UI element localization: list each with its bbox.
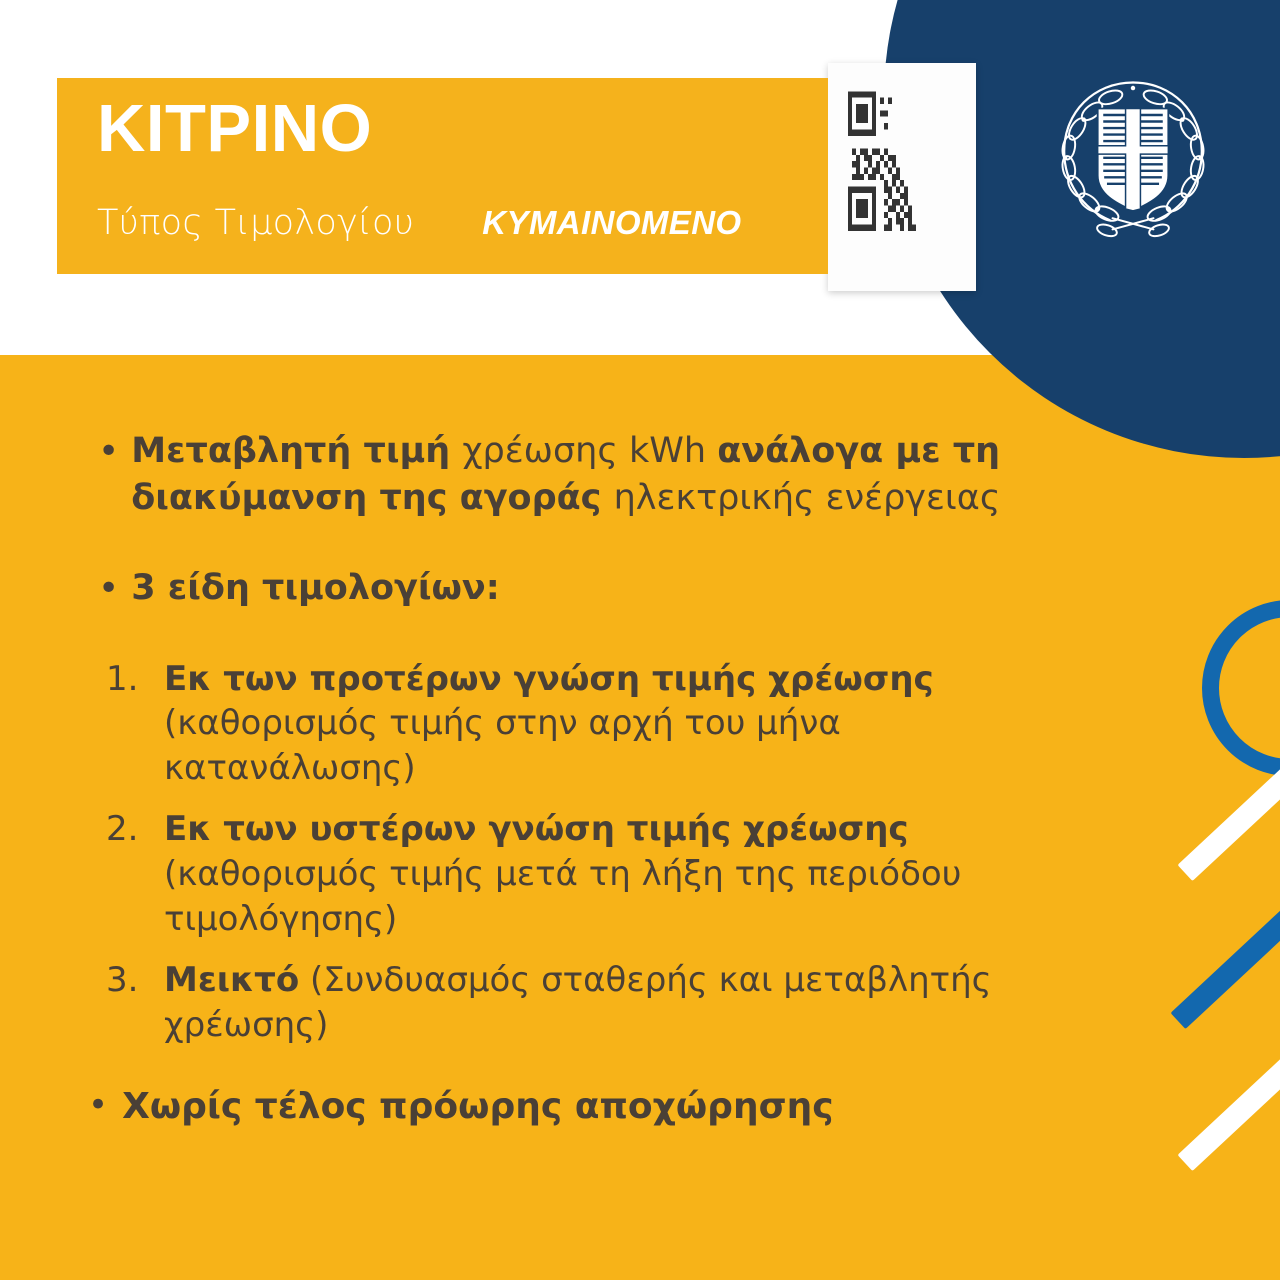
list-item-body: Μεικτό (Συνδυασμός σταθερής και μεταβλητ…	[164, 958, 1078, 1048]
kinds-heading-text: 3 είδη τιμολογίων:	[131, 565, 1078, 612]
bullet-no-exit-fee-text: Χωρίς τέλος πρόωρης αποχώρησης	[122, 1085, 834, 1128]
bullet-kinds-heading: • 3 είδη τιμολογίων:	[98, 565, 1078, 613]
header-banner: ΚΙΤΡΙΝΟ Τύπος Τιμολογίου ΚΥΜΑΙΝΟΜΕΝΟ	[57, 78, 828, 274]
lead-seg-1: Μεταβλητή τιμή	[131, 431, 462, 471]
list-item-title: Εκ των υστέρων γνώση τιμής χρέωσης	[164, 809, 909, 849]
bullet-variable-price-text: Μεταβλητή τιμή χρέωσης kWh ανάλογα με τη…	[131, 428, 1078, 521]
list-item: 1. Εκ των προτέρων γνώση τιμής χρέωσης (…	[106, 657, 1078, 792]
qr-code	[844, 85, 960, 269]
bullet-no-exit-fee: • Χωρίς τέλος πρόωρης αποχώρησης	[88, 1085, 834, 1128]
greek-coat-of-arms-emblem	[1040, 62, 1226, 248]
qr-code-card[interactable]	[828, 63, 976, 291]
lead-seg-4: ηλεκτρικής ενέργειας	[614, 478, 1001, 518]
header-subtitle-row: Τύπος Τιμολογίου ΚΥΜΑΙΝΟΜΕΝΟ	[97, 203, 812, 243]
bullet-marker-icon: •	[98, 565, 119, 613]
tariff-type-value: ΚΥΜΑΙΝΟΜΕΝΟ	[482, 204, 741, 242]
list-item-body: Εκ των υστέρων γνώση τιμής χρέωσης (καθο…	[164, 807, 1078, 942]
tariff-kinds-list: 1. Εκ των προτέρων γνώση τιμής χρέωσης (…	[106, 657, 1078, 1048]
infographic-poster: ΚΙΤΡΙΝΟ Τύπος Τιμολογίου ΚΥΜΑΙΝΟΜΕΝΟ	[0, 0, 1280, 1280]
lead-seg-2: χρέωσης kWh	[462, 431, 717, 471]
list-item-title: Μεικτό	[164, 960, 299, 1000]
list-item-detail: (καθορισμός τιμής στην αρχή του μήνα κατ…	[164, 703, 841, 788]
list-item-number: 2.	[106, 807, 164, 852]
list-item-number: 3.	[106, 958, 164, 1003]
list-item: 3. Μεικτό (Συνδυασμός σταθερής και μεταβ…	[106, 958, 1078, 1048]
list-item-number: 1.	[106, 657, 164, 702]
bullet-variable-price: • Μεταβλητή τιμή χρέωσης kWh ανάλογα με …	[98, 428, 1078, 521]
content-body: • Μεταβλητή τιμή χρέωσης kWh ανάλογα με …	[98, 428, 1078, 1064]
page-title: ΚΙΤΡΙΝΟ	[97, 95, 372, 162]
list-item: 2. Εκ των υστέρων γνώση τιμής χρέωσης (κ…	[106, 807, 1078, 942]
tariff-type-label: Τύπος Τιμολογίου	[97, 203, 414, 243]
list-item-title: Εκ των προτέρων γνώση τιμής χρέωσης	[164, 659, 934, 699]
bullet-marker-icon: •	[98, 428, 119, 476]
list-item-detail: (καθορισμός τιμής μετά τη λήξη της περιό…	[164, 854, 961, 939]
bullet-marker-icon: •	[88, 1085, 108, 1126]
list-item-body: Εκ των προτέρων γνώση τιμής χρέωσης (καθ…	[164, 657, 1078, 792]
